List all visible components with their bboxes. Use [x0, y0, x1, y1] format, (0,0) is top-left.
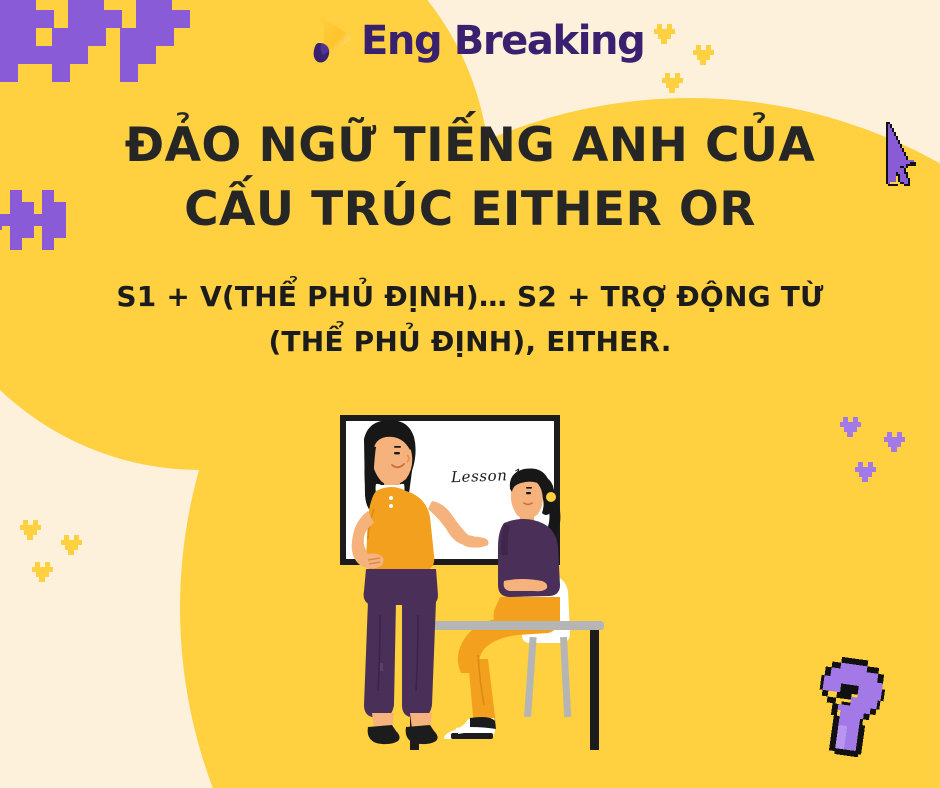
- pixel-sparkle-icon: [840, 417, 862, 437]
- brand-logo[interactable]: Eng Breaking: [313, 12, 644, 70]
- pixel-sparkle-icon: [855, 462, 877, 482]
- poster-canvas: Eng Breaking ĐẢO NGỮ TIẾNG ANH CỦA CẤU T…: [0, 0, 940, 788]
- headline-line-2: CẤU TRÚC EITHER OR: [0, 178, 940, 242]
- headline-line-1: ĐẢO NGỮ TIẾNG ANH CỦA: [125, 118, 815, 173]
- pixel-sparkle-icon: [20, 520, 42, 540]
- pixel-sparkle-icon: [693, 45, 715, 65]
- subheadline-line-2: (THỂ PHỦ ĐỊNH), EITHER.: [0, 320, 940, 365]
- pixel-question-mark-icon: [805, 650, 901, 762]
- whiteboard-lesson-text: Lesson 1: [451, 466, 524, 487]
- pixel-sparkle-icon: [884, 432, 906, 452]
- pixel-sparkle-icon: [32, 562, 54, 582]
- classroom-illustration: Lesson 1: [318, 405, 718, 788]
- pixel-sparkle-icon: [654, 24, 676, 44]
- page-subtitle: S1 + V(THỂ PHỦ ĐỊNH)… S2 + TRỢ ĐỘNG TỪ (…: [0, 275, 940, 365]
- page-title: ĐẢO NGỮ TIẾNG ANH CỦA CẤU TRÚC EITHER OR: [0, 114, 940, 242]
- play-arrow-logo-icon: [313, 17, 351, 65]
- pixel-sparkle-icon: [61, 535, 83, 555]
- subheadline-line-1: S1 + V(THỂ PHỦ ĐỊNH)… S2 + TRỢ ĐỘNG TỪ: [116, 280, 823, 313]
- brand-name: Eng Breaking: [361, 21, 644, 61]
- pixel-chevron-arrow-icon: [0, 0, 210, 102]
- pixel-sparkle-icon: [662, 73, 684, 93]
